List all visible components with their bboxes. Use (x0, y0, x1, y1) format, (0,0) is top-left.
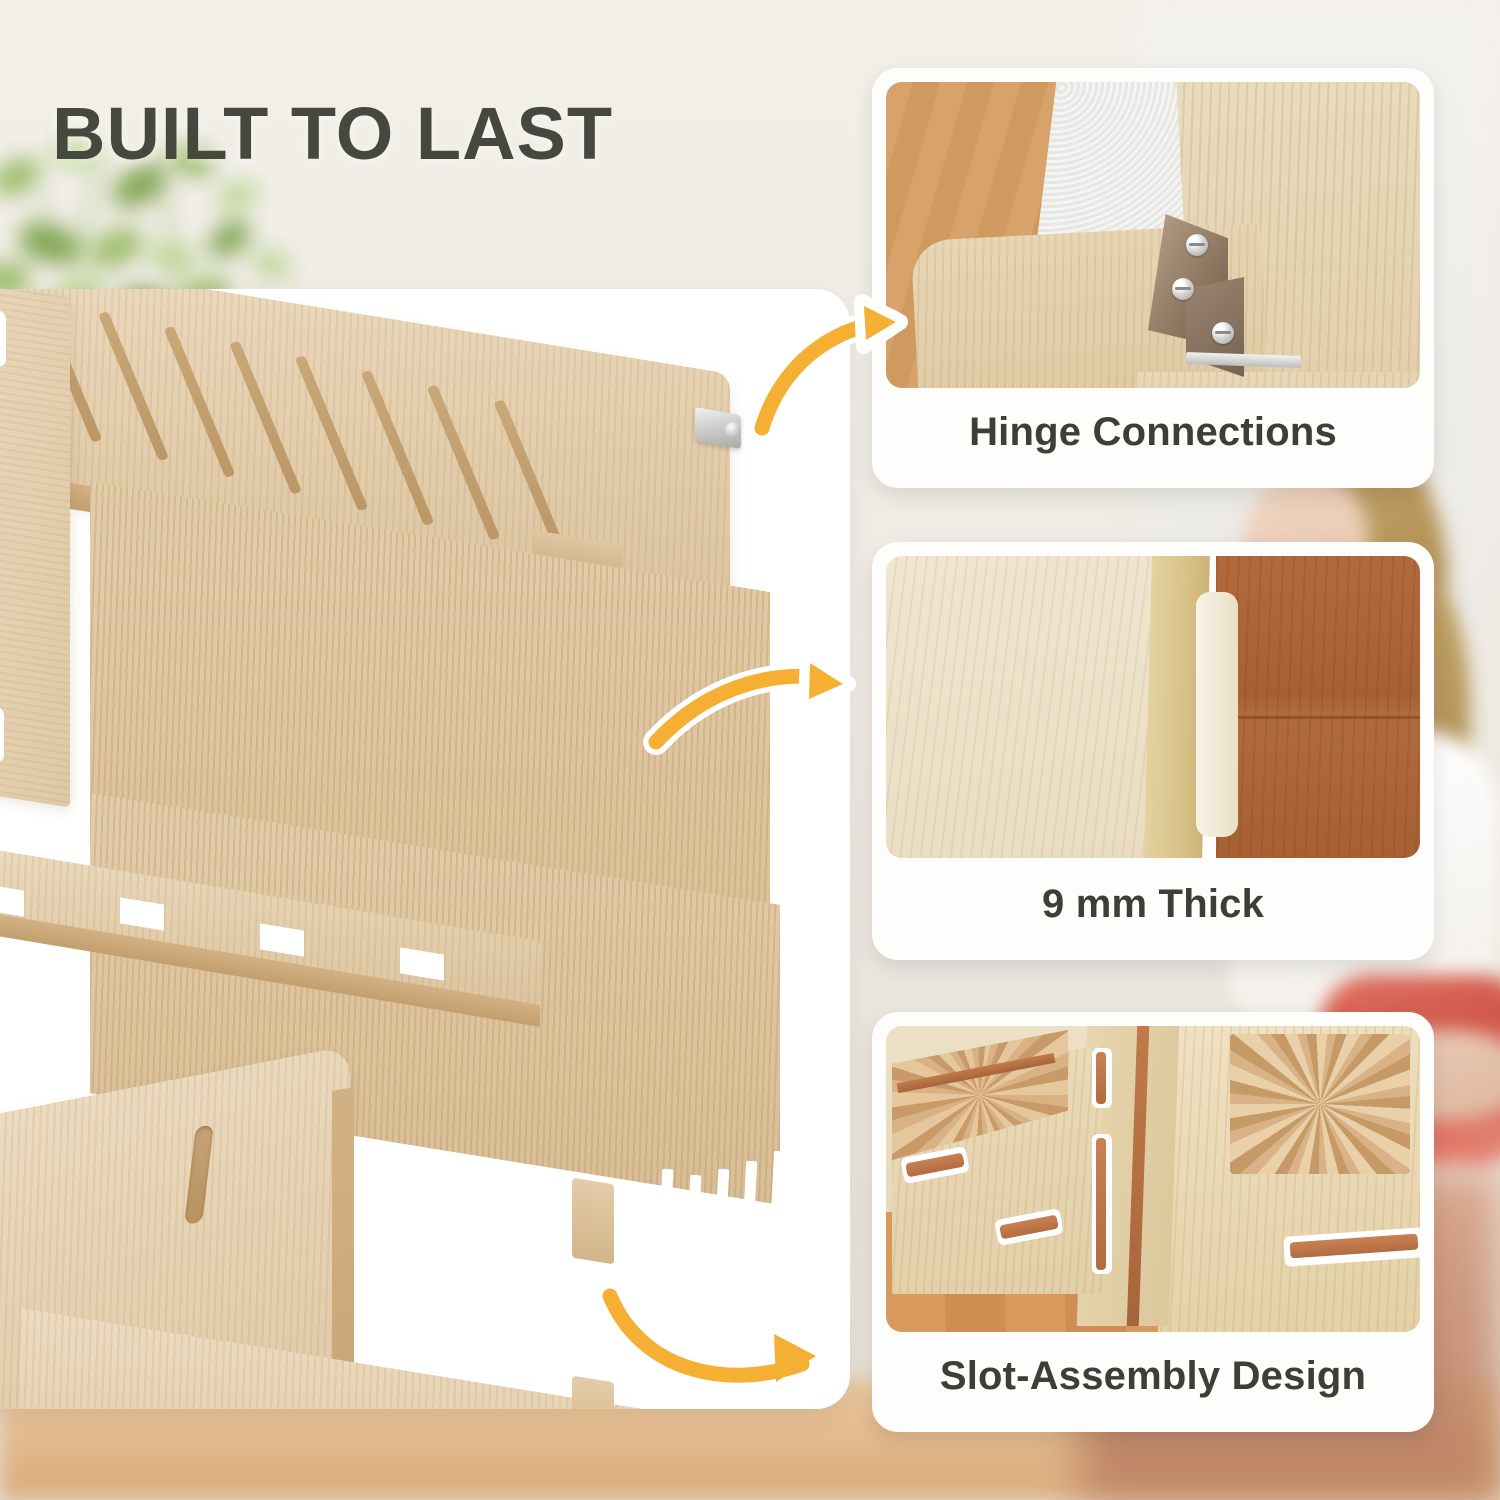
detail-label-hinge-connections: Hinge Connections (872, 376, 1434, 488)
divider-tab (572, 1178, 614, 1265)
product-image-card (0, 289, 850, 1409)
gap-white-2 (650, 1253, 850, 1409)
detail-label-slot-assembly-design: Slot-Assembly Design (872, 1320, 1434, 1432)
detail-label-nine-mm-thick: 9 mm Thick (872, 848, 1434, 960)
page-title: BUILT TO LAST (52, 97, 613, 171)
detail-card-slot-assembly-design[interactable]: Slot-Assembly Design (872, 1012, 1434, 1432)
detail-card-nine-mm-thick[interactable]: 9 mm Thick (872, 542, 1434, 960)
slot-joint-corner-closeup (886, 1026, 1420, 1332)
right-divider-panel (0, 289, 70, 808)
hinge-bracket-closeup (886, 82, 1420, 388)
board-edge-thickness-closeup (886, 556, 1420, 858)
lid-hinge-pin (725, 422, 741, 438)
exploded-product-render (0, 289, 850, 1409)
infographic-stage: BUILT TO LAST (0, 0, 1500, 1500)
divider-tab (572, 1376, 614, 1409)
detail-card-hinge-connections[interactable]: Hinge Connections (872, 68, 1434, 488)
